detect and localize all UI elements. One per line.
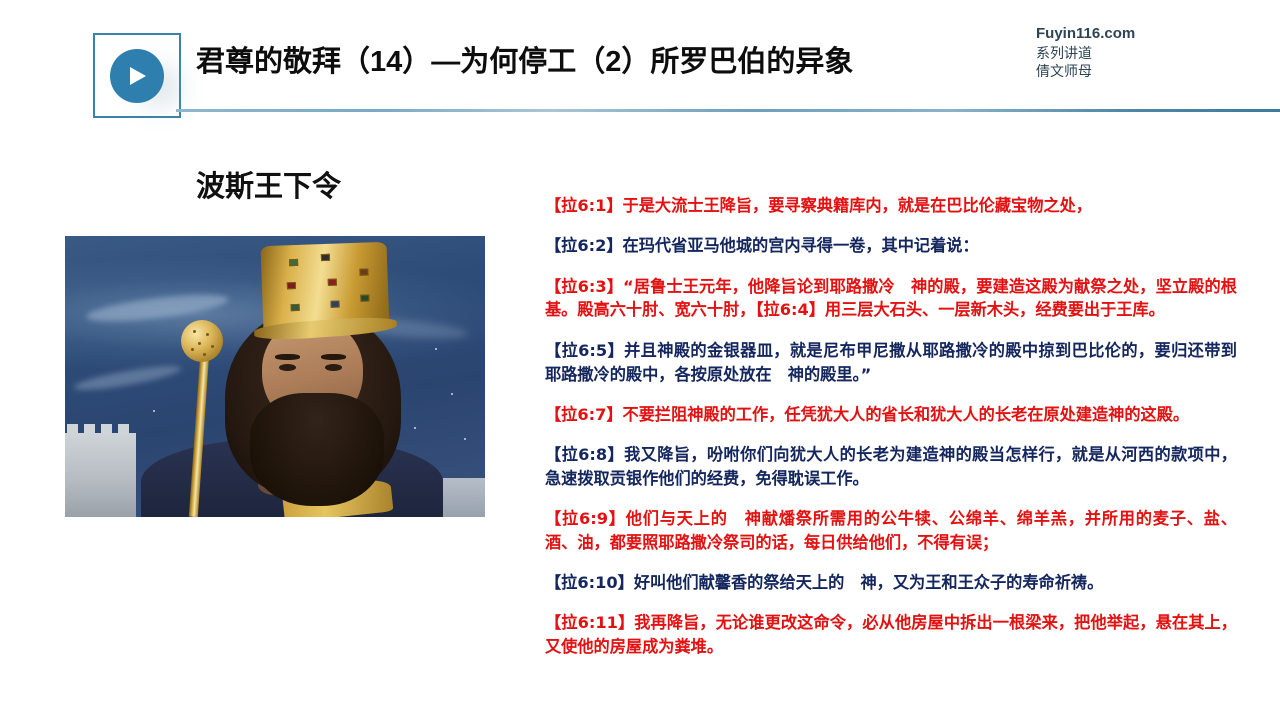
verse-paragraph: 【拉6:5】并且神殿的金银器皿，就是尼布甲尼撒从耶路撒冷的殿中掠到巴比伦的，要归… (545, 339, 1237, 387)
brand-site: Fuyin116.com (1036, 24, 1135, 44)
crown-gem (361, 295, 370, 302)
king-brow (321, 354, 346, 360)
crown-gem (289, 259, 298, 266)
fortress-wall-left (65, 433, 136, 517)
crown-gem (291, 305, 300, 312)
page-title: 君尊的敬拜（14）—为何停工（2）所罗巴伯的异象 (196, 45, 853, 80)
merlon (101, 424, 112, 434)
merlon (118, 424, 129, 434)
verse-paragraph: 【拉6:7】不要拦阻神殿的工作，任凭犹大人的省长和犹大人的长老在原处建造神的这殿… (545, 403, 1237, 427)
crown-gem (360, 269, 369, 276)
king-eye (325, 364, 342, 371)
scripture-column: 【拉6:1】于是大流士王降旨，要寻察典籍库内，就是在巴比伦藏宝物之处， 【拉6:… (545, 178, 1237, 668)
play-button-icon[interactable] (110, 49, 164, 103)
star (153, 410, 155, 412)
verse-paragraph: 【拉6:9】他们与天上的 神献燔祭所需用的公牛犊、公绵羊、绵羊羔，并所用的麦子、… (545, 507, 1237, 555)
orb-stud (211, 345, 214, 348)
verse-paragraph: 【拉6:10】好叫他们献馨香的祭给天上的 神，又为王和王众子的寿命祈祷。 (545, 571, 1237, 595)
verse-paragraph: 【拉6:2】在玛代省亚马他城的宫内寻得一卷，其中记着说： (545, 234, 1237, 258)
fortress-wall-right (443, 478, 485, 517)
crown-gem (287, 282, 296, 289)
king-brow (275, 354, 300, 360)
left-column: 波斯王下令 (0, 130, 520, 720)
verse-paragraph: 【拉6:3】“居鲁士王元年，他降旨论到耶路撒冷 神的殿，要建造这殿为献祭之处，坚… (545, 275, 1237, 323)
orb-stud (206, 333, 209, 336)
orb-stud (198, 342, 201, 345)
brand-series: 系列讲道 (1036, 44, 1135, 62)
section-heading: 波斯王下令 (196, 163, 341, 205)
crown-gem (322, 255, 331, 262)
star (414, 427, 416, 429)
star (451, 393, 453, 395)
persian-king-image (65, 236, 485, 517)
crown-gem (328, 279, 337, 286)
verse-paragraph: 【拉6:1】于是大流士王降旨，要寻察典籍库内，就是在巴比伦藏宝物之处， (545, 194, 1237, 218)
orb-stud (203, 353, 206, 356)
merlon (67, 424, 78, 434)
king-eye (279, 364, 296, 371)
verse-paragraph: 【拉6:11】我再降旨，无论谁更改这命令，必从他房屋中拆出一根梁来，把他举起，悬… (545, 611, 1237, 659)
brand-block: Fuyin116.com 系列讲道 倩文师母 (1036, 24, 1135, 81)
header-divider (176, 109, 1280, 112)
verse-paragraph: 【拉6:8】我又降旨，吩咐你们向犹大人的长老为建造神的殿当怎样行，就是从河西的款… (545, 443, 1237, 491)
king-scepter-orb (181, 320, 223, 362)
orb-stud (193, 330, 196, 333)
star (464, 438, 466, 440)
crown-gem (331, 301, 340, 308)
slide-header: 君尊的敬拜（14）—为何停工（2）所罗巴伯的异象 Fuyin116.com 系列… (0, 0, 1280, 130)
merlon (84, 424, 95, 434)
brand-speaker: 倩文师母 (1036, 62, 1135, 80)
orb-stud (191, 348, 194, 351)
king-beard (250, 393, 384, 505)
